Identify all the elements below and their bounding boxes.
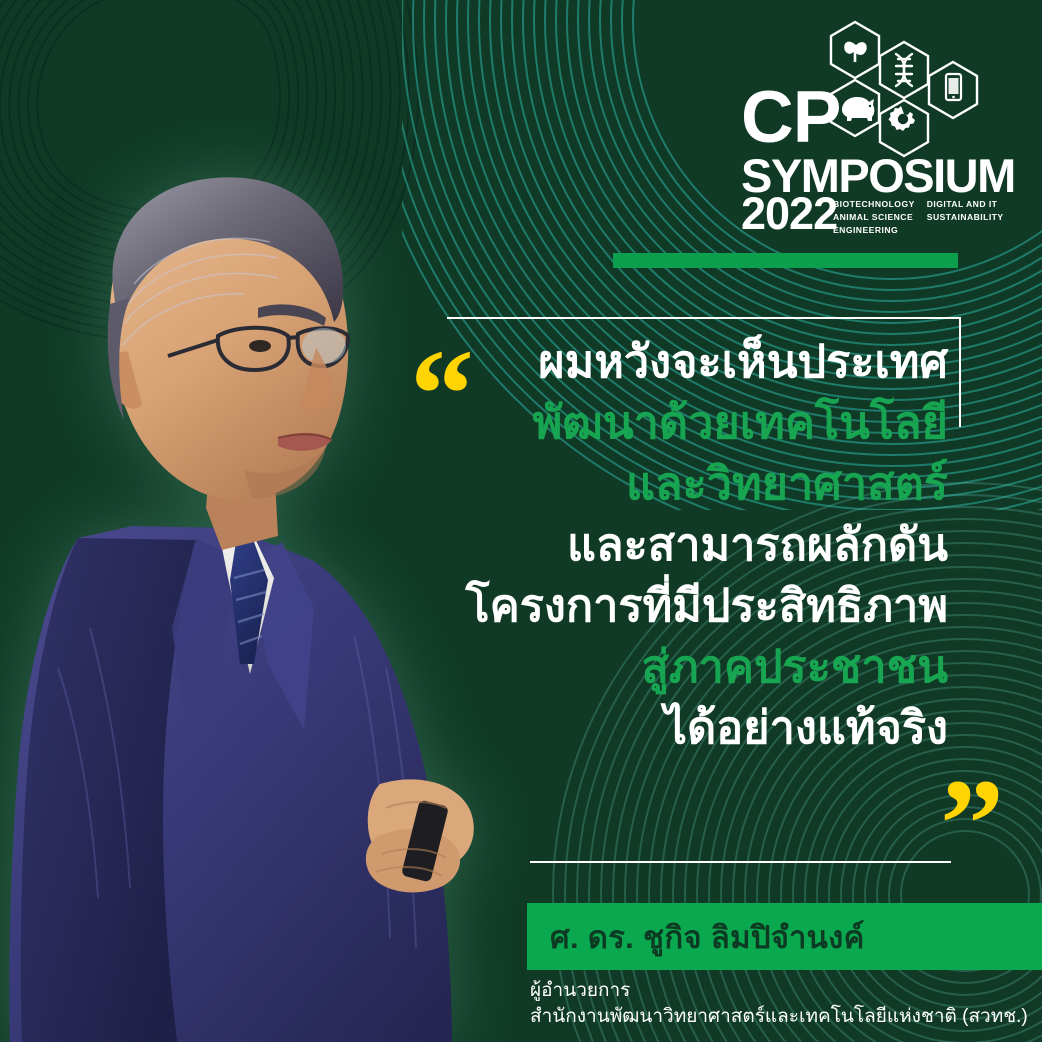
quote-line-3: และวิทยาศาสตร์ (420, 454, 948, 515)
hexagon-icon-cluster (822, 18, 990, 168)
cp-symposium-logo: CP SYMPOSIUM 2022 BIOTECHNOLOGY ANIMAL S… (735, 18, 990, 233)
tagline-engineering: ENGINEERING (833, 224, 915, 237)
speaker-name-bar: ศ. ดร. ชูกิจ ลิมปิจำนงค์ (527, 903, 1042, 970)
quote-line-4: และสามารถผลักดัน (420, 515, 948, 576)
dna-icon (896, 54, 912, 86)
poster-canvas: CP SYMPOSIUM 2022 BIOTECHNOLOGY ANIMAL S… (0, 0, 1042, 1042)
tagline-biotechnology: BIOTECHNOLOGY (833, 198, 915, 211)
pig-icon (842, 97, 874, 121)
green-divider-bar (613, 253, 958, 268)
quote-line-1: ผมหวังจะเห็นประเทศ (420, 332, 948, 393)
speaker-name: ศ. ดร. ชูกิจ ลิมปิจำนงค์ (527, 912, 865, 962)
quote-line-7: ได้อย่างแท้จริง (420, 698, 948, 759)
close-quote-mark: ” (940, 760, 1004, 888)
speaker-role-title: ผู้อำนวยการ (530, 978, 1028, 1004)
smartphone-icon (946, 74, 961, 100)
tagline-column-left: BIOTECHNOLOGY ANIMAL SCIENCE ENGINEERING (833, 198, 915, 237)
logo-cp-text: CP (741, 88, 840, 148)
quote-line-6: สู่ภาคประชาชน (420, 637, 948, 698)
tagline-animal-science: ANIMAL SCIENCE (833, 211, 915, 224)
quote-text-block: ผมหวังจะเห็นประเทศ พัฒนาด้วยเทคโนโลยี แล… (420, 332, 948, 759)
sprout-icon (845, 43, 865, 62)
gear-icon (889, 106, 916, 131)
quote-line-2: พัฒนาด้วยเทคโนโลยี (420, 393, 948, 454)
quote-frame-right-line (959, 317, 961, 427)
logo-taglines: BIOTECHNOLOGY ANIMAL SCIENCE ENGINEERING… (833, 198, 1004, 237)
tagline-sustainability: SUSTAINABILITY (927, 211, 1004, 224)
speaker-role-block: ผู้อำนวยการ สำนักงานพัฒนาวิทยาศาสตร์และเ… (530, 978, 1028, 1030)
tagline-digital-and-it: DIGITAL AND IT (927, 198, 1004, 211)
speaker-organization: สำนักงานพัฒนาวิทยาศาสตร์และเทคโนโลยีแห่ง… (530, 1004, 1028, 1030)
tagline-column-right: DIGITAL AND IT SUSTAINABILITY (927, 198, 1004, 237)
quote-frame-top-line (447, 317, 961, 319)
logo-year-text: 2022 (741, 194, 837, 235)
quote-frame-bottom-line (530, 861, 951, 863)
quote-line-5: โครงการที่มีประสิทธิภาพ (420, 576, 948, 637)
